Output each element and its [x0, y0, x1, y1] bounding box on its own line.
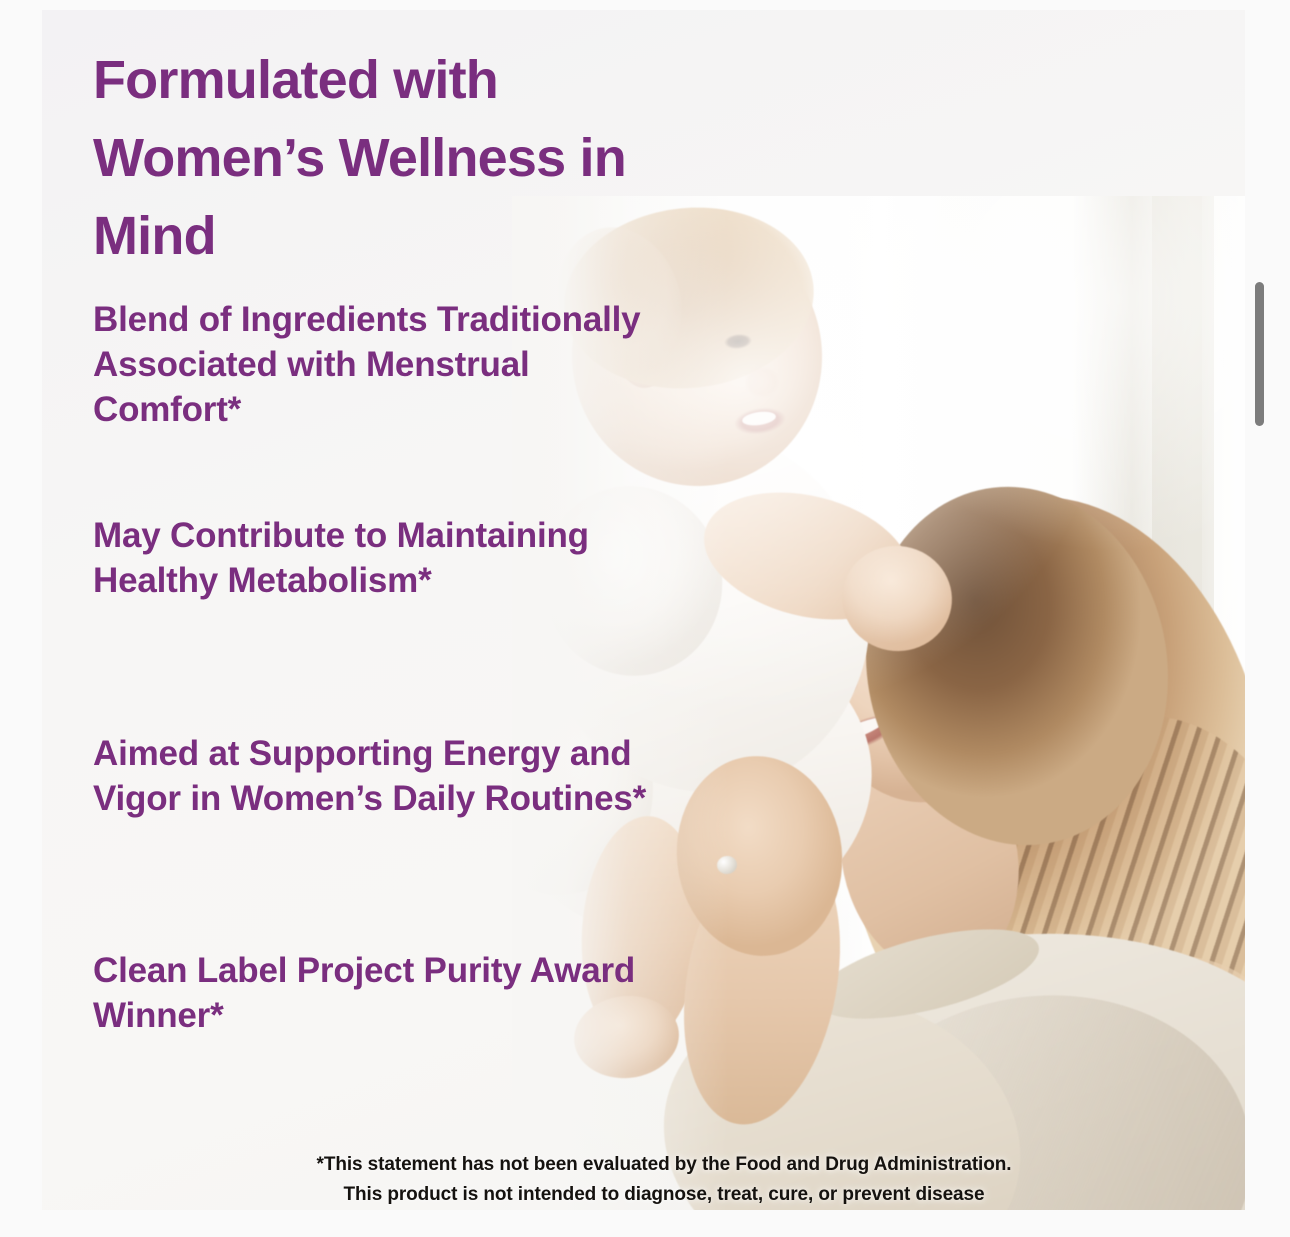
- fda-disclaimer: *This statement has not been evaluated b…: [84, 1150, 1244, 1210]
- page-root: Formulated with Women’s Wellness in Mind…: [0, 0, 1290, 1237]
- benefit-item-3: Aimed at Supporting Energy and Vigor in …: [93, 731, 653, 821]
- benefit-item-2: May Contribute to Maintaining Healthy Me…: [93, 513, 653, 603]
- benefit-item-1: Blend of Ingredients Traditionally Assoc…: [93, 297, 653, 432]
- page-title: Formulated with Women’s Wellness in Mind: [93, 41, 693, 275]
- fda-disclaimer-line-1: *This statement has not been evaluated b…: [84, 1150, 1244, 1180]
- benefit-item-4: Clean Label Project Purity Award Winner*: [93, 948, 653, 1038]
- fda-disclaimer-line-2: This product is not intended to diagnose…: [84, 1180, 1244, 1210]
- vertical-scrollbar-thumb[interactable]: [1255, 282, 1264, 426]
- baby-nose: [744, 366, 780, 398]
- vertical-scrollbar-track[interactable]: [1264, 0, 1278, 1237]
- product-benefits-panel: Formulated with Women’s Wellness in Mind…: [42, 10, 1245, 1210]
